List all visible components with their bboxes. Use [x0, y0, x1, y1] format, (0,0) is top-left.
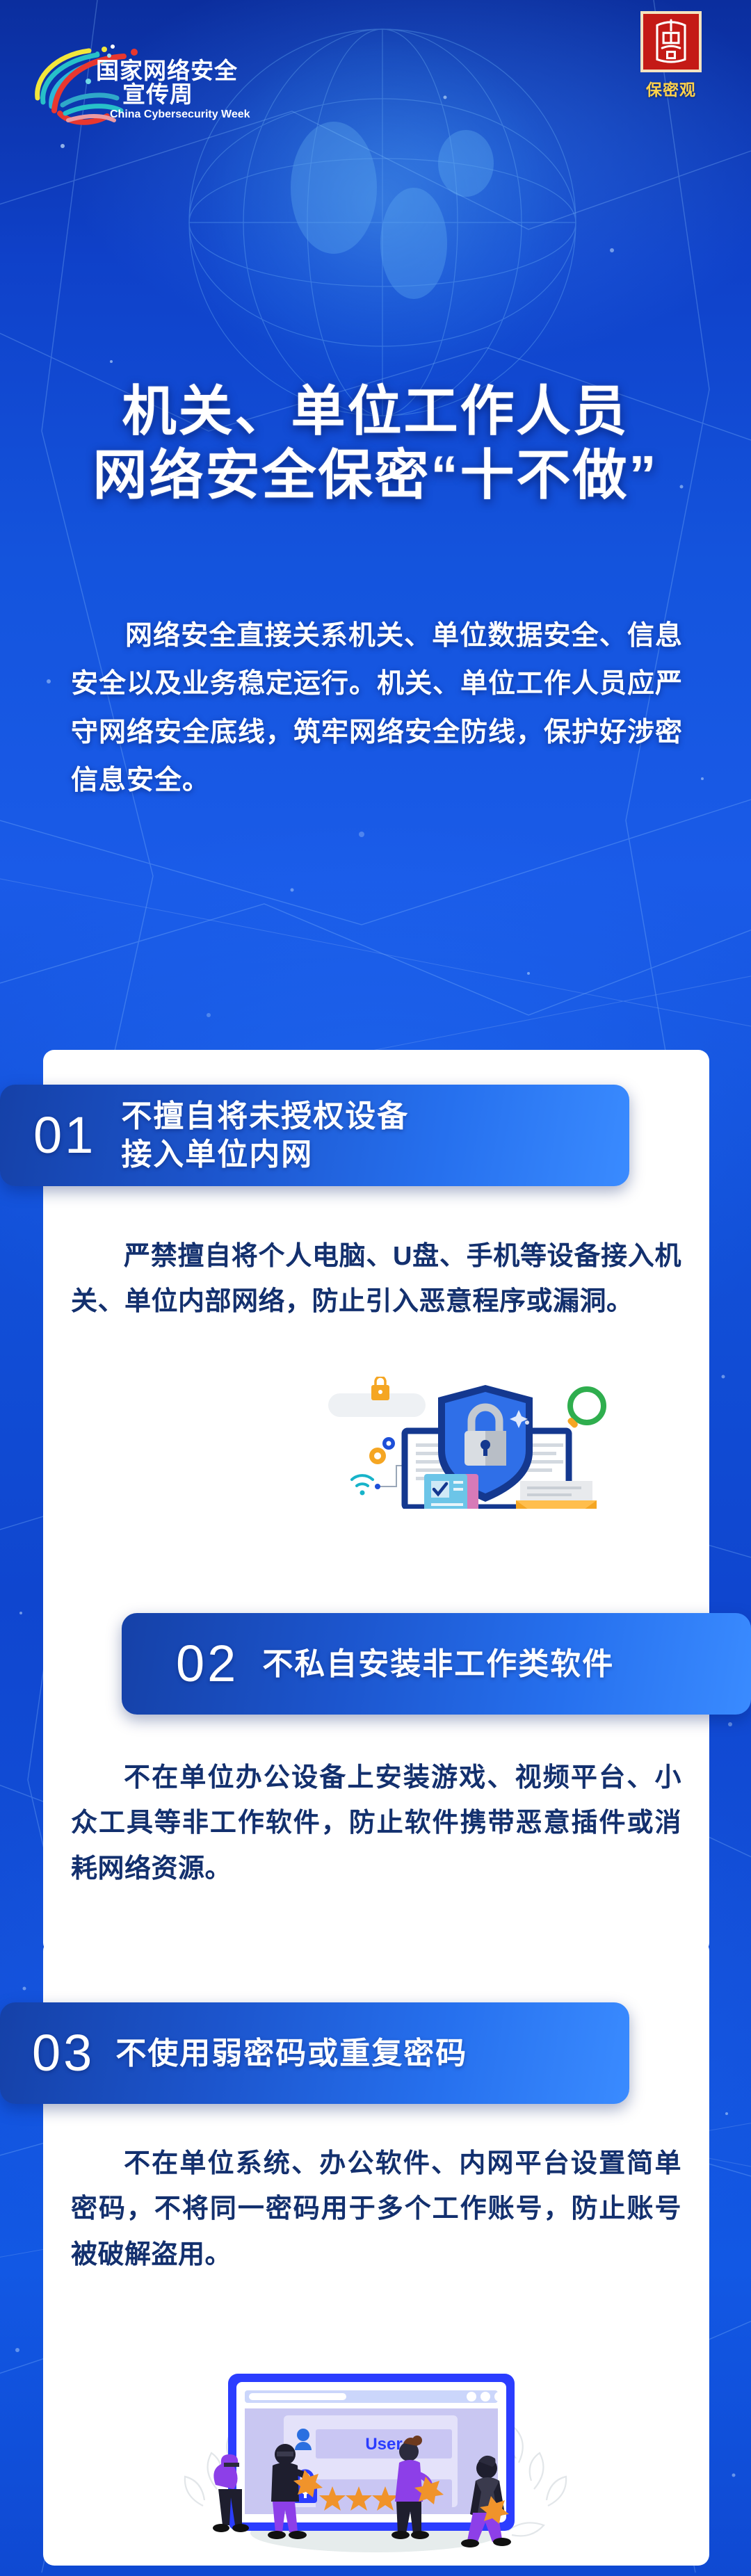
section-banner-02[interactable]: 02 不私自安装非工作类软件	[122, 1613, 751, 1715]
china-cybersecurity-week-logo: 国家网络安全 宣传周 China Cybersecurity Week	[19, 38, 256, 132]
section-banner-01[interactable]: 01 不擅自将未授权设备 接入单位内网	[0, 1085, 629, 1186]
password-theft-login-screen-illustration: User	[167, 2357, 584, 2566]
section-title-01: 不擅自将未授权设备 接入单位内网	[121, 1097, 409, 1174]
section-banner-03[interactable]: 03 不使用弱密码或重复密码	[0, 2002, 629, 2104]
section-title-01-line2: 接入单位内网	[121, 1137, 313, 1172]
section-title-01-line1: 不擅自将未授权设备	[121, 1099, 409, 1133]
section-title-03: 不使用弱密码或重复密码	[115, 2034, 467, 2073]
magnifier-icon	[567, 1389, 604, 1429]
section-number-01: 01	[33, 1110, 96, 1161]
cw-logo-cn-line1: 国家网络安全	[96, 58, 238, 83]
section-body-01: 严禁擅自将个人电脑、U盘、手机等设备接入机关、单位内部网络，防止引入恶意程序或漏…	[71, 1234, 681, 1325]
login-user-label: User	[365, 2435, 402, 2454]
section-number-03: 03	[32, 2027, 95, 2079]
gears-icon	[369, 1437, 395, 1464]
page-title-line-1: 机关、单位工作人员	[0, 379, 751, 443]
cloud-lock-icon	[328, 1377, 426, 1417]
baomiguan-label: 保密观	[629, 76, 713, 100]
baomiguan-logo: 保密观	[629, 11, 713, 102]
section-number-02: 02	[176, 1638, 239, 1690]
section-body-02: 不在单位办公设备上安装游戏、视频平台、小众工具等非工作软件，防止软件携带恶意插件…	[71, 1756, 681, 1892]
cw-logo-cn-line2: 宣传周	[122, 81, 193, 107]
baomiguan-seal-icon	[640, 11, 702, 72]
intro-paragraph: 网络安全直接关系机关、单位数据安全、信息安全以及业务稳定运行。机关、单位工作人员…	[71, 612, 683, 805]
cw-logo-en: China Cybersecurity Week	[110, 108, 250, 120]
page-title-line-2: 网络安全保密“十不做”	[0, 443, 751, 507]
page-title: 机关、单位工作人员 网络安全保密“十不做”	[0, 379, 751, 507]
wifi-icon	[352, 1466, 410, 1496]
section-body-03: 不在单位系统、办公软件、内网平台设置简单密码，不将同一密码用于多个工作账号，防止…	[71, 2141, 681, 2278]
section-title-02: 不私自安装非工作类软件	[262, 1645, 614, 1683]
